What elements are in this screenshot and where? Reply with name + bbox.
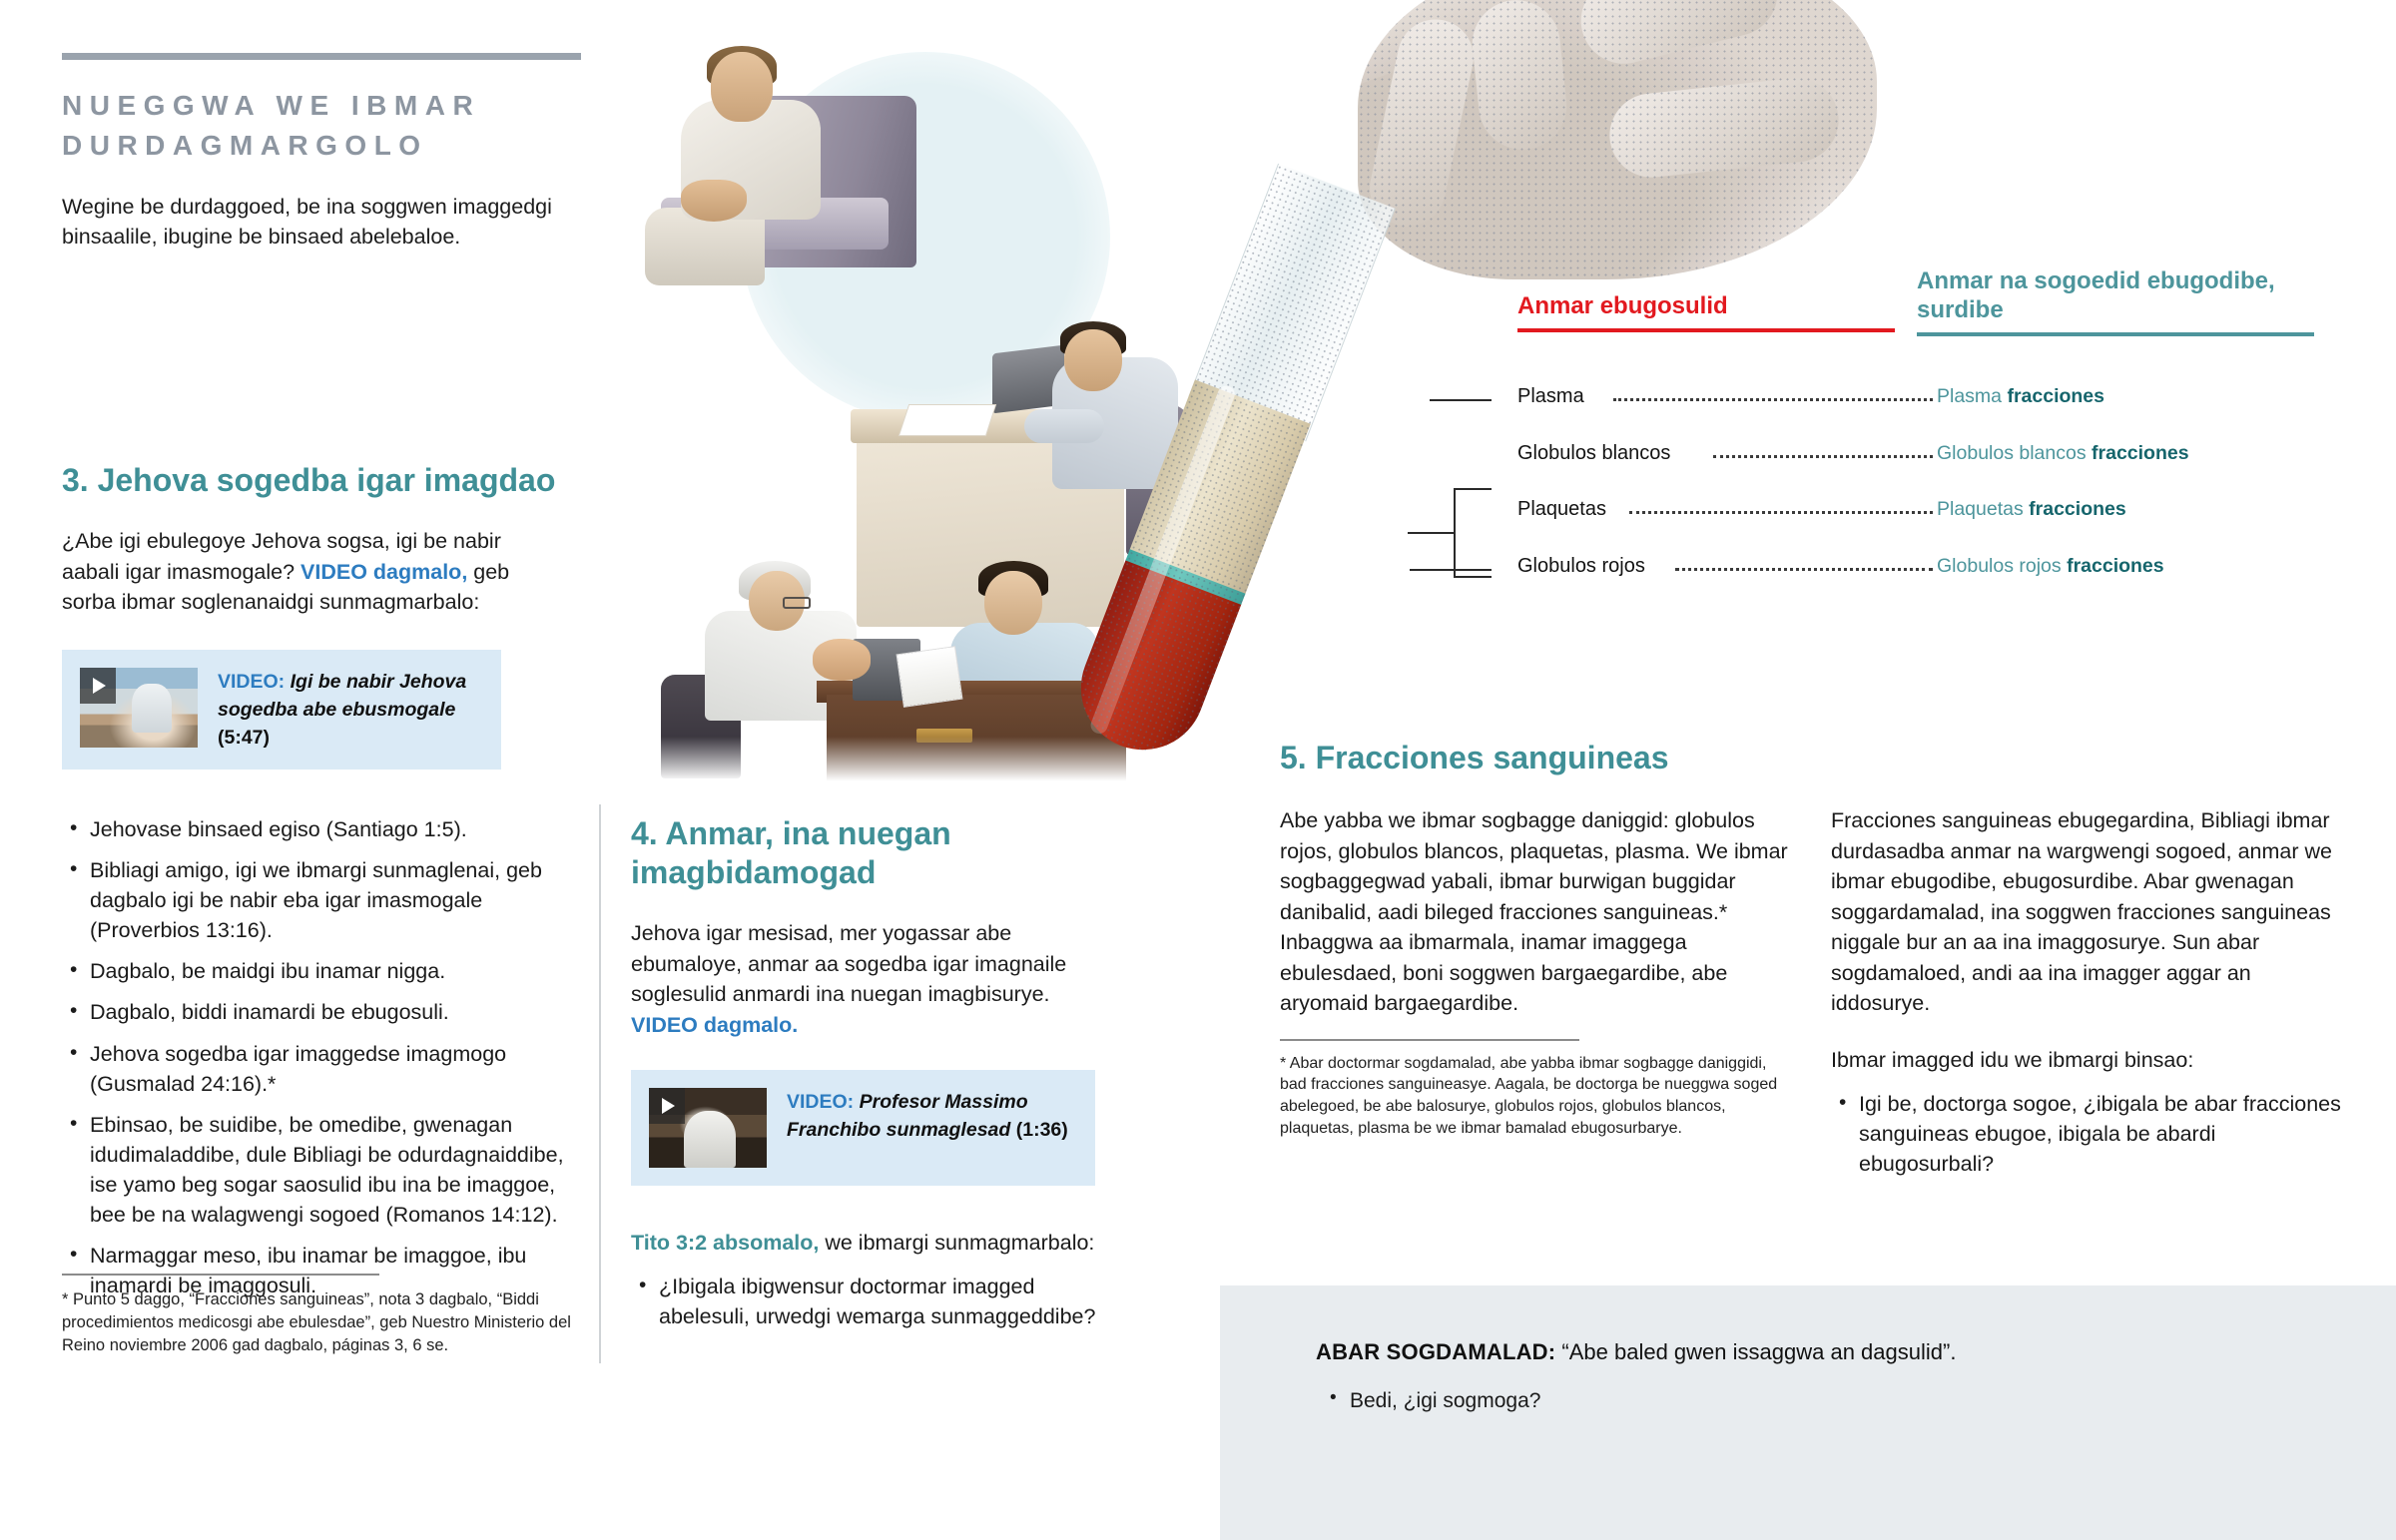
scripture-prompt: Tito 3:2 absomalo, we ibmargi sunmagmarb…: [631, 1228, 1130, 1258]
video-duration: (1:36): [1016, 1119, 1068, 1141]
video-card-1[interactable]: VIDEO: Igi be nabir Jehova sogedba abe e…: [62, 650, 501, 770]
practice-panel-heading: ABAR SOGDAMALAD: “Abe baled gwen issaggw…: [1316, 1337, 2396, 1368]
leader-line: [1430, 399, 1492, 401]
video-link[interactable]: VIDEO dagmalo.: [631, 1013, 798, 1037]
section-4-body-before: Jehova igar mesisad, mer yogassar abe eb…: [631, 921, 1066, 1006]
column-divider: [599, 804, 601, 1363]
fraction-name: Globulos rojos fracciones: [1937, 555, 2164, 578]
blood-components-diagram: Anmar ebugosulid Anmar na sogoedid ebugo…: [1517, 267, 2356, 587]
section-3: 3. Jehova sogedba igar imagdao ¿Abe igi …: [62, 461, 561, 770]
diagram-header-right-underline: [1917, 332, 2314, 336]
section-3-body: ¿Abe igi ebulegoye Jehova sogsa, igi be …: [62, 526, 551, 618]
play-icon[interactable]: [80, 668, 116, 704]
practice-panel-bullet-list: Bedi, ¿igi sogmoga?: [1316, 1386, 2396, 1415]
list-item: Ebinsao, be suidibe, be omedibe, gwenaga…: [62, 1110, 581, 1230]
diagram-row-plasma: Plasma Plasma fracciones: [1517, 385, 2356, 415]
column-two: 4. Anmar, ina nuegan imagbidamogad Jehov…: [631, 814, 1130, 1342]
practice-panel-label: ABAR SOGDAMALAD:: [1316, 1339, 1555, 1364]
footnote-rule: [1280, 1039, 1579, 1041]
list-item: Bedi, ¿igi sogmoga?: [1316, 1386, 2396, 1415]
video-caption: VIDEO: Profesor Massimo Franchibo sunmag…: [787, 1088, 1075, 1145]
section-5-bullet-list: Igi be, doctorga sogoe, ¿ibigala be abar…: [1831, 1089, 2342, 1179]
video-card-2[interactable]: VIDEO: Profesor Massimo Franchibo sunmag…: [631, 1070, 1095, 1186]
diagram-header-right-label: Anmar na sogoedid ebugodibe, surdibe: [1917, 267, 2316, 325]
component-name: Plasma: [1517, 385, 1584, 408]
student-head: [1064, 329, 1122, 391]
list-item: Jehova sogedba igar imaggedse imagmogo (…: [62, 1039, 581, 1099]
section-4-body: Jehova igar mesisad, mer yogassar abe eb…: [631, 918, 1122, 1040]
top-rule: [62, 53, 581, 60]
fraction-name: Plaquetas fracciones: [1937, 498, 2126, 521]
paper-sheet: [899, 405, 995, 435]
diagram-row-red-cells: Globulos rojos Globulos rojos fracciones: [1517, 555, 2356, 585]
diagram-header-left-label: Anmar ebugosulid: [1517, 267, 1897, 321]
bracket-bottom-arm: [1454, 576, 1492, 578]
diagram-header-left-underline: [1517, 328, 1895, 332]
page-kicker: NUEGGWA WE IBMAR DURDAGMARGOLO: [62, 86, 581, 166]
diagram-row-platelets: Plaquetas Plaquetas fracciones: [1517, 498, 2356, 528]
section-3-bullet-list: Jehovase binsaed egiso (Santiago 1:5). B…: [62, 814, 581, 1311]
play-icon[interactable]: [649, 1088, 685, 1124]
glove-texture-dots: [1358, 0, 1877, 279]
section-4-heading: 4. Anmar, ina nuegan imagbidamogad: [631, 814, 1130, 892]
section-5-right-paragraph: Fracciones sanguineas ebugegardina, Bibl…: [1831, 805, 2342, 1019]
intro-paragraph: Wegine be durdaggoed, be ina soggwen ima…: [62, 192, 573, 253]
practice-panel-quote: “Abe baled gwen issaggwa an dagsulid”.: [1555, 1339, 1956, 1364]
footnote-rule: [62, 1274, 379, 1276]
dotted-connector: [1675, 568, 1933, 571]
list-item: Dagbalo, be maidgi ibu inamar nigga.: [62, 956, 581, 986]
video-caption: VIDEO: Igi be nabir Jehova sogedba abe e…: [218, 668, 481, 753]
document-page: Anmar ebugosulid Anmar na sogoedid ebugo…: [0, 0, 2396, 1540]
video-thumbnail[interactable]: [649, 1088, 767, 1168]
list-item: ¿Ibigala ibigwensur doctormar imagged ab…: [631, 1272, 1130, 1331]
diagram-header-right: Anmar na sogoedid ebugodibe, surdibe: [1917, 267, 2316, 336]
video-link[interactable]: VIDEO dagmalo,: [300, 560, 467, 584]
component-name: Plaquetas: [1517, 498, 1606, 521]
section-5-left-column: Abe yabba we ibmar sogbagge daniggid: gl…: [1280, 805, 1791, 1190]
scripture-prompt-after: we ibmargi sunmagmarbalo:: [819, 1231, 1094, 1255]
section-5-footnote: * Abar doctormar sogdamalad, abe yabba i…: [1280, 1053, 1791, 1140]
bracket-connector: [1454, 488, 1494, 578]
section-4-bullet-list: ¿Ibigala ibigwensur doctormar imagged ab…: [631, 1272, 1130, 1331]
fraction-name: Globulos blancos fracciones: [1937, 442, 2189, 465]
dotted-connector: [1629, 511, 1933, 514]
student-arm: [1024, 409, 1104, 443]
column-one: NUEGGWA WE IBMAR DURDAGMARGOLO Wegine be…: [62, 0, 581, 253]
bracket-top-arm: [1454, 488, 1492, 490]
list-item: Jehovase binsaed egiso (Santiago 1:5).: [62, 814, 581, 844]
video-label: VIDEO:: [218, 671, 285, 693]
patient-document: [898, 647, 962, 707]
diagram-header-left: Anmar ebugosulid: [1517, 267, 1897, 332]
scripture-link[interactable]: Tito 3:2 absomalo,: [631, 1231, 819, 1255]
doctor-gesturing-hands: [813, 639, 871, 681]
diagram-row-white-cells: Globulos blancos Globulos blancos fracci…: [1517, 442, 2356, 472]
section-5-right-column: Fracciones sanguineas ebugegardina, Bibl…: [1831, 805, 2342, 1190]
video-label: VIDEO:: [787, 1091, 854, 1113]
man-clasped-hands: [681, 180, 747, 222]
section-5-right-lead: Ibmar imagged idu we ibmargi binsao:: [1831, 1045, 2342, 1076]
bracket-stem: [1408, 532, 1456, 534]
dotted-connector: [1713, 455, 1933, 458]
section-5-heading: 5. Fracciones sanguineas: [1280, 739, 2358, 777]
video-duration: (5:47): [218, 727, 270, 749]
section-5: 5. Fracciones sanguineas Abe yabba we ib…: [1280, 739, 2358, 1190]
column-one-footnote: * Punto 5 daggo, “Fracciones sanguineas”…: [62, 1274, 581, 1356]
list-item: Dagbalo, biddi inamardi be ebugosuli.: [62, 997, 581, 1027]
leader-line: [1410, 569, 1492, 571]
footnote-text: * Punto 5 daggo, “Fracciones sanguineas”…: [62, 1288, 581, 1356]
practice-panel: ABAR SOGDAMALAD: “Abe baled gwen issaggw…: [1220, 1285, 2396, 1540]
component-name: Globulos rojos: [1517, 555, 1645, 578]
man-head: [711, 52, 773, 122]
section-5-left-paragraph: Abe yabba we ibmar sogbagge daniggid: gl…: [1280, 805, 1791, 1019]
scene-man-in-armchair: [637, 38, 926, 287]
video-thumbnail[interactable]: [80, 668, 198, 748]
list-item: Igi be, doctorga sogoe, ¿ibigala be abar…: [1831, 1089, 2342, 1179]
eyeglasses-icon: [783, 597, 811, 609]
section-3-heading: 3. Jehova sogedba igar imagdao: [62, 461, 561, 500]
dotted-connector: [1613, 398, 1933, 401]
fraction-name: Plasma fracciones: [1937, 385, 2104, 408]
list-item: Bibliagi amigo, igi we ibmargi sunmaglen…: [62, 855, 581, 945]
bottom-fade: [649, 737, 1178, 798]
component-name: Globulos blancos: [1517, 442, 1670, 465]
patient-head: [984, 571, 1042, 635]
